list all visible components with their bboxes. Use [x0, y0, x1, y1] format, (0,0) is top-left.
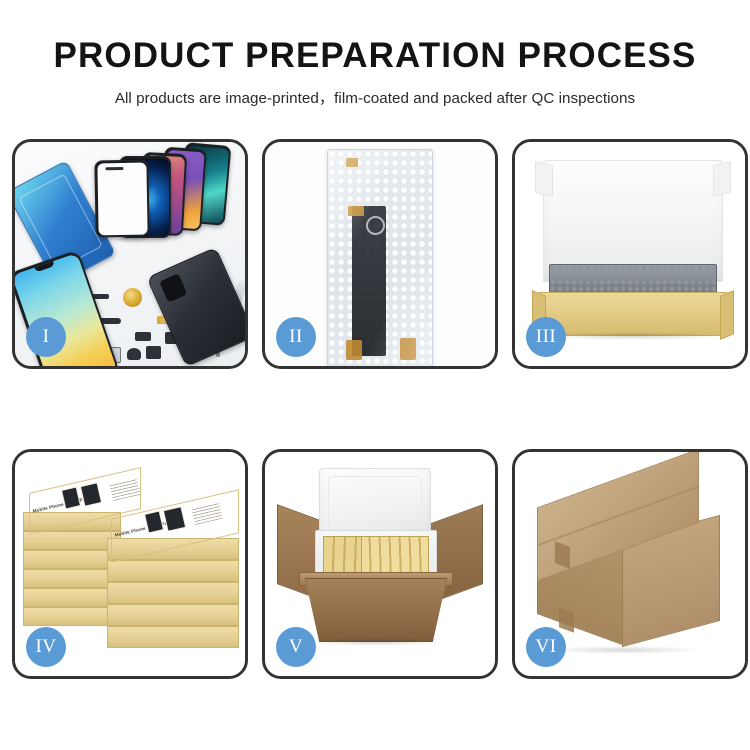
- part-earpiece: [127, 348, 141, 360]
- page-header: PRODUCT PREPARATION PROCESS All products…: [0, 0, 750, 108]
- kraft-tray: [539, 292, 727, 336]
- part-vibration-motor: [123, 288, 142, 307]
- kraft-box-front-5: [107, 626, 239, 648]
- step-panel-2[interactable]: II: [262, 139, 498, 369]
- step-badge-2: II: [276, 317, 316, 357]
- carton-body: [305, 578, 447, 642]
- step-panel-3[interactable]: III: [512, 139, 748, 369]
- drop-shadow: [309, 638, 441, 646]
- step-panel-6[interactable]: VI: [512, 449, 748, 679]
- kraft-box-front-3: [107, 582, 239, 604]
- step-badge-1: I: [26, 317, 66, 357]
- bubble-wrap-sleeve: [327, 149, 433, 366]
- drop-shadow: [545, 332, 721, 340]
- part-taptic-engine: [146, 346, 161, 359]
- kraft-box-front-2: [107, 560, 239, 582]
- lcd-screen-white: [94, 160, 149, 238]
- plastic-sheen: [328, 150, 432, 366]
- step-panel-5[interactable]: V: [262, 449, 498, 679]
- part-shield-plate: [135, 332, 151, 341]
- step-badge-4: IV: [26, 627, 66, 667]
- step-badge-5: V: [276, 627, 316, 667]
- kraft-box-front-4: [107, 604, 239, 626]
- page-subtitle: All products are image-printed，film-coat…: [0, 86, 750, 108]
- drop-shadow: [549, 646, 699, 654]
- step-badge-6: VI: [526, 627, 566, 667]
- step-badge-3: III: [526, 317, 566, 357]
- step-panel-4[interactable]: Mobile Phone Spare Parts Mobile Phone Sp…: [12, 449, 248, 679]
- step-panel-1[interactable]: I: [12, 139, 248, 369]
- process-steps-grid: I II: [12, 139, 738, 679]
- page-title: PRODUCT PREPARATION PROCESS: [0, 38, 750, 75]
